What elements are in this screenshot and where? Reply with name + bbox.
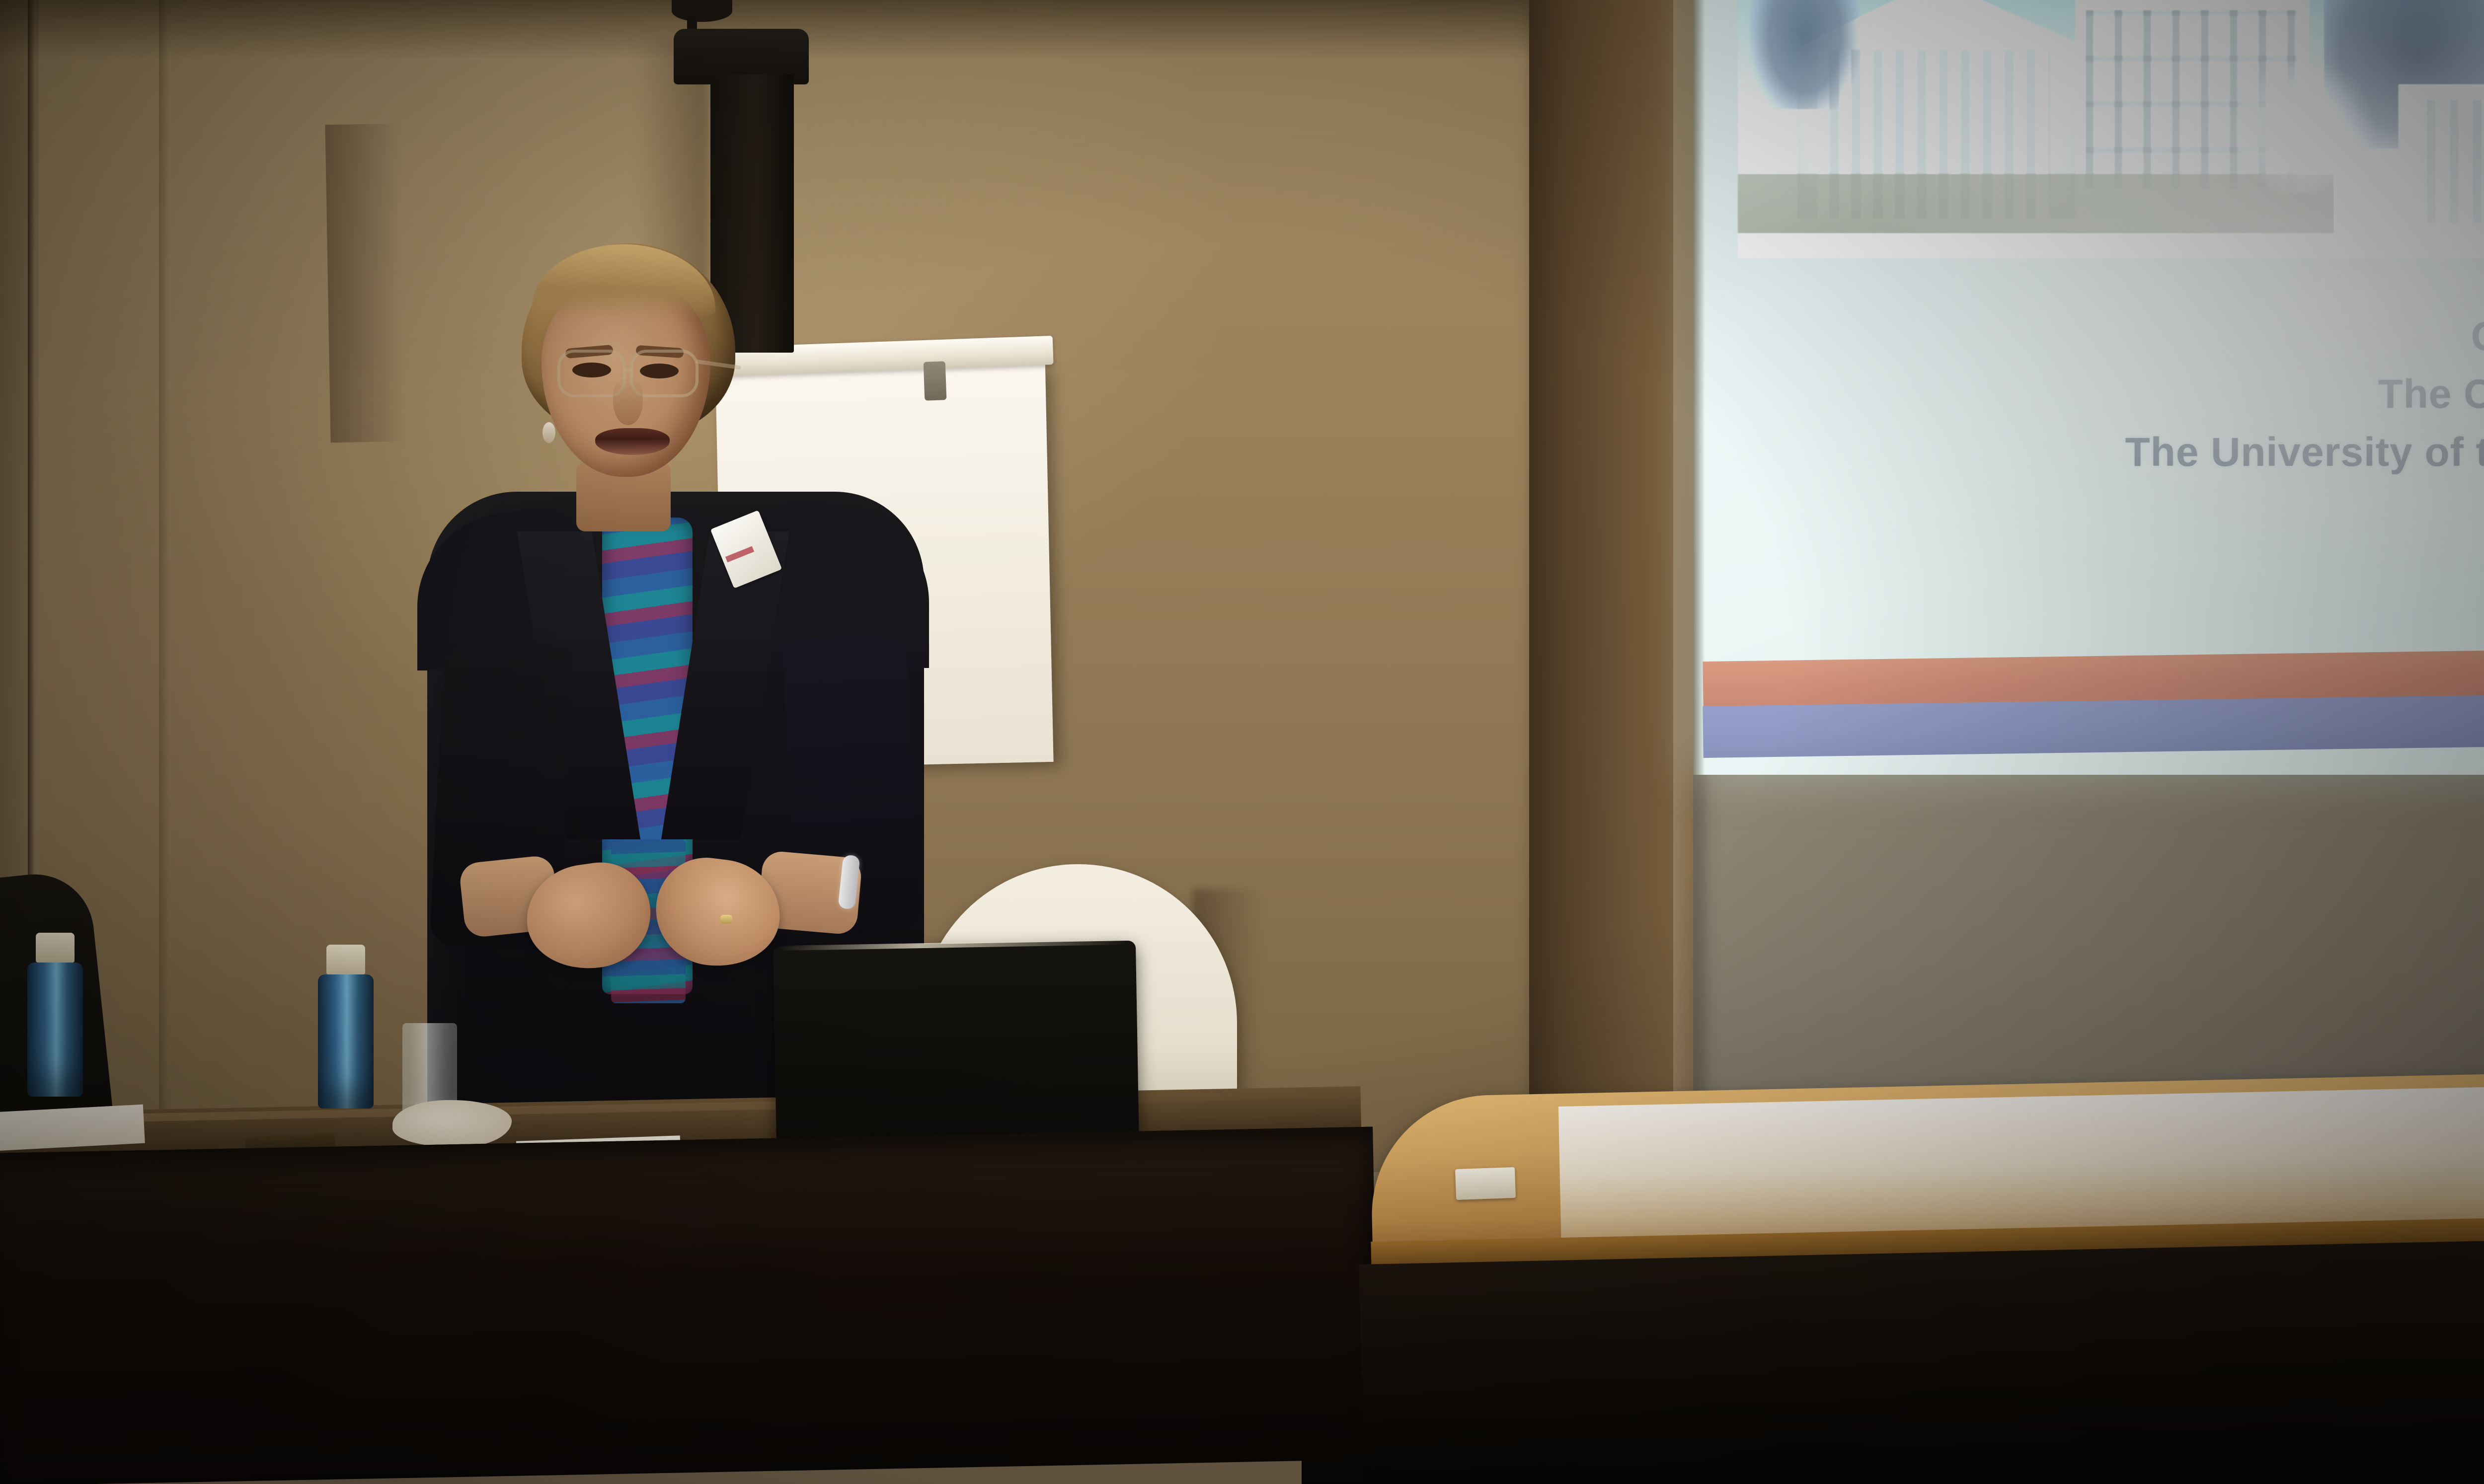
water-bottle-right xyxy=(318,945,374,1109)
ring xyxy=(720,915,732,924)
slide-line-university: The University of the Witw xyxy=(1693,424,2484,481)
structural-column xyxy=(1529,0,1693,1207)
slide-text-block: Claudine The Centre fo The University of… xyxy=(1693,308,2484,481)
projection-screen: Claudine The Centre fo The University of… xyxy=(1693,0,2484,775)
counter-front-panel xyxy=(1359,1238,2484,1484)
photo-columns-right xyxy=(2413,99,2484,223)
paper-napkins xyxy=(392,1100,512,1147)
wall-below-screen xyxy=(1693,767,2484,1125)
nose xyxy=(613,377,643,425)
wall-seam xyxy=(159,0,169,1142)
table-skirt xyxy=(0,1127,1379,1484)
earring xyxy=(543,422,555,443)
bottle-cap xyxy=(326,945,365,974)
presentation-room-photo: Claudine The Centre fo The University of… xyxy=(0,0,2484,1484)
speaker-ceiling-plate xyxy=(672,0,732,22)
folded-card xyxy=(1455,1167,1516,1200)
photo-tree-left xyxy=(1748,0,1862,109)
water-bottle-left xyxy=(27,933,83,1097)
slide-header-photo xyxy=(1738,0,2484,258)
photo-glare xyxy=(2225,65,2384,194)
bottle-body xyxy=(27,963,83,1097)
bottle-cap xyxy=(36,933,75,963)
glasses-bridge xyxy=(625,369,633,372)
slide-line-centre: The Centre fo xyxy=(1693,366,2484,423)
mouth xyxy=(595,428,670,455)
bottle-body xyxy=(318,974,374,1109)
slide-line-presenter-name: Claudine xyxy=(1693,308,2484,366)
hair-fringe xyxy=(532,244,715,319)
